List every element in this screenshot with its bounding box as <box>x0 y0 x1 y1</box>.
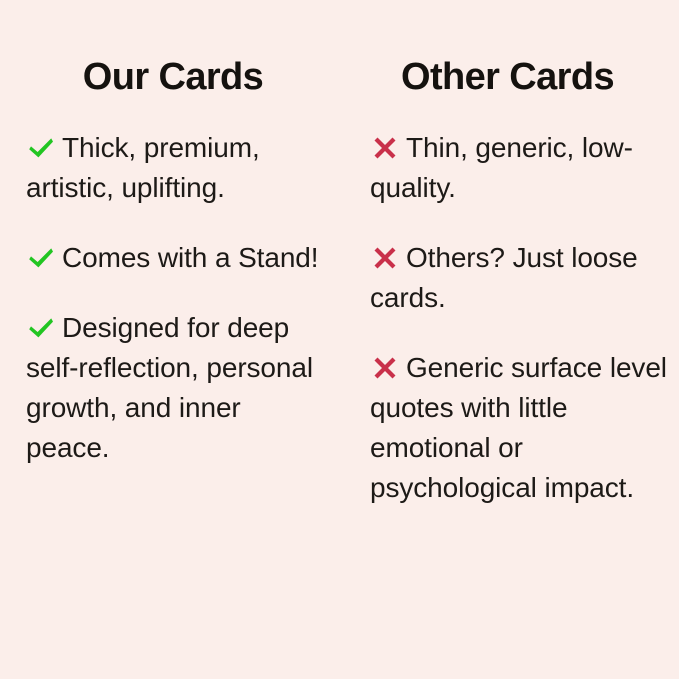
list-item-text: Designed for deep self-reflection, perso… <box>26 312 313 463</box>
cross-icon <box>370 133 400 163</box>
list-item-text: Thin, generic, low-quality. <box>370 132 633 203</box>
cross-icon <box>370 243 400 273</box>
list-item: Designed for deep self-reflection, perso… <box>26 308 330 468</box>
column-headers: Our Cards Other Cards <box>0 0 679 98</box>
list-item-text: Thick, premium, artistic, uplifting. <box>26 132 260 203</box>
check-icon <box>26 243 56 273</box>
list-item: Thick, premium, artistic, uplifting. <box>26 128 330 208</box>
other-cards-heading: Other Cards <box>348 58 679 98</box>
our-cards-heading: Our Cards <box>0 58 348 98</box>
other-cards-column: Thin, generic, low-quality. Others? Just… <box>348 128 679 508</box>
list-item: Comes with a Stand! <box>26 238 330 278</box>
list-item-text: Others? Just loose cards. <box>370 242 638 313</box>
cross-icon <box>370 353 400 383</box>
list-item-text: Generic surface level quotes with little… <box>370 352 667 503</box>
comparison-graphic: Our Cards Other Cards Thick, premium, ar… <box>0 0 679 679</box>
list-item: Generic surface level quotes with little… <box>370 348 671 508</box>
list-item: Others? Just loose cards. <box>370 238 671 318</box>
list-item: Thin, generic, low-quality. <box>370 128 671 208</box>
check-icon <box>26 313 56 343</box>
list-item-text: Comes with a Stand! <box>62 242 318 273</box>
check-icon <box>26 133 56 163</box>
our-cards-column: Thick, premium, artistic, uplifting. Com… <box>0 128 348 508</box>
comparison-columns: Thick, premium, artistic, uplifting. Com… <box>0 98 679 508</box>
